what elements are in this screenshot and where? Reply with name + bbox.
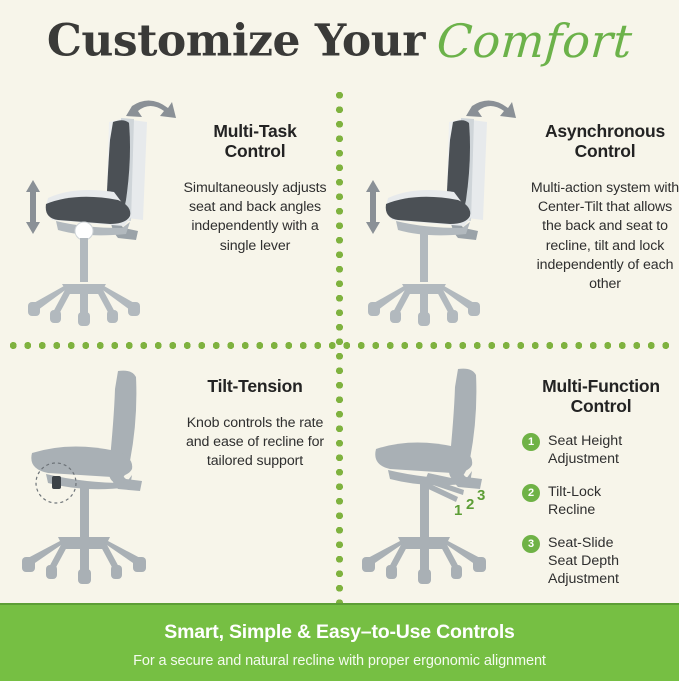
title-line-2: Control [571, 396, 632, 416]
chair-seat [386, 197, 471, 224]
title-line-1: Multi-Task [213, 121, 296, 141]
list-item: 2 Tilt-Lock Recline [522, 483, 679, 519]
quadrant-tilt-tension: Tilt-Tension Knob controls the rate and … [0, 349, 339, 606]
chair-illustration-multi-function: 1 2 3 [354, 357, 524, 587]
label-line-1: Tilt-Lock [548, 484, 601, 500]
label-line-1: Seat Height [548, 433, 622, 449]
number-badge-2: 2 [522, 484, 540, 502]
chair-illustration-asynchronous [354, 88, 524, 328]
title-script-text: Comfort [435, 14, 634, 68]
gas-cylinder [420, 483, 429, 537]
lever-label-1: 1 [454, 502, 462, 519]
tilt-arrow-icon [466, 100, 516, 118]
tilt-arrow-icon [126, 100, 176, 118]
gas-cylinder [80, 485, 89, 537]
chair-base [362, 537, 486, 584]
list-item-label-2: Tilt-Lock Recline [548, 483, 601, 519]
gas-cylinder [80, 238, 88, 282]
list-item: 1 Seat Height Adjustment [522, 432, 679, 468]
numbered-feature-list: 1 Seat Height Adjustment 2 Tilt-Lock Rec… [522, 432, 679, 588]
label-line-2: Seat Depth [548, 553, 619, 569]
list-item-label-3: Seat-Slide Seat Depth Adjustment [548, 534, 619, 588]
quadrant-body-tilt-tension: Knob controls the rate and ease of recli… [176, 414, 334, 472]
chair-seat [46, 197, 131, 224]
number-badge-3: 3 [522, 535, 540, 553]
title-main-text: Customize Your [47, 16, 425, 67]
chair-base [28, 284, 140, 326]
title-line-2: Control [225, 141, 286, 161]
quadrant-title-multi-function: Multi-Function Control [522, 376, 679, 416]
quadrant-title-tilt-tension: Tilt-Tension [176, 376, 334, 396]
text-column-multi-function: Multi-Function Control 1 Seat Height Adj… [522, 376, 679, 603]
quadrant-body-multi-task: Simultaneously adjusts seat and back ang… [176, 179, 334, 256]
vertical-arrow-icon [26, 180, 40, 234]
bottom-banner: Smart, Simple & Easy–to-Use Controls For… [0, 603, 679, 681]
label-line-3: Adjustment [548, 571, 619, 587]
label-line-2: Adjustment [548, 451, 619, 467]
tension-knob [52, 476, 61, 489]
quadrant-body-asynchronous: Multi-action system with Center-Tilt tha… [530, 179, 679, 294]
label-line-1: Seat-Slide [548, 535, 613, 551]
quadrant-multi-task-control: Multi-Task Control Simultaneously adjust… [0, 88, 339, 342]
list-item: 3 Seat-Slide Seat Depth Adjustment [522, 534, 679, 588]
vertical-arrow-icon [366, 180, 380, 234]
title-line-1: Asynchronous [545, 121, 665, 141]
title-line-2: Control [575, 141, 636, 161]
page-title: Customize YourComfort [0, 14, 679, 68]
infographic-page: Customize YourComfort [0, 0, 679, 679]
banner-title: Smart, Simple & Easy–to-Use Controls [0, 621, 679, 644]
lever-label-2: 2 [466, 496, 474, 513]
list-item-label-1: Seat Height Adjustment [548, 432, 622, 468]
chair-illustration-multi-task [14, 88, 184, 328]
quadrant-multi-function-control: 1 2 3 Multi-Function Control [340, 349, 679, 606]
gas-cylinder [420, 234, 428, 282]
text-column-tilt-tension: Tilt-Tension Knob controls the rate and … [176, 376, 334, 472]
quadrant-title-asynchronous: Asynchronous Control [530, 121, 679, 161]
label-line-2: Recline [548, 502, 595, 518]
center-tilt-knob [75, 222, 93, 240]
chair-illustration-tilt-tension [14, 357, 184, 587]
quadrant-asynchronous-control: Asynchronous Control Multi-action system… [340, 88, 679, 342]
lever-label-3: 3 [477, 487, 485, 504]
quadrant-title-multi-task: Multi-Task Control [176, 121, 334, 161]
text-column-asynchronous: Asynchronous Control Multi-action system… [530, 121, 679, 294]
banner-subtitle: For a secure and natural recline with pr… [0, 653, 679, 669]
header: Customize YourComfort [0, 0, 679, 88]
chair-base [368, 284, 480, 326]
text-column-multi-task: Multi-Task Control Simultaneously adjust… [176, 121, 334, 256]
chair-base [22, 537, 146, 584]
title-line-1: Multi-Function [542, 376, 660, 396]
number-badge-1: 1 [522, 433, 540, 451]
